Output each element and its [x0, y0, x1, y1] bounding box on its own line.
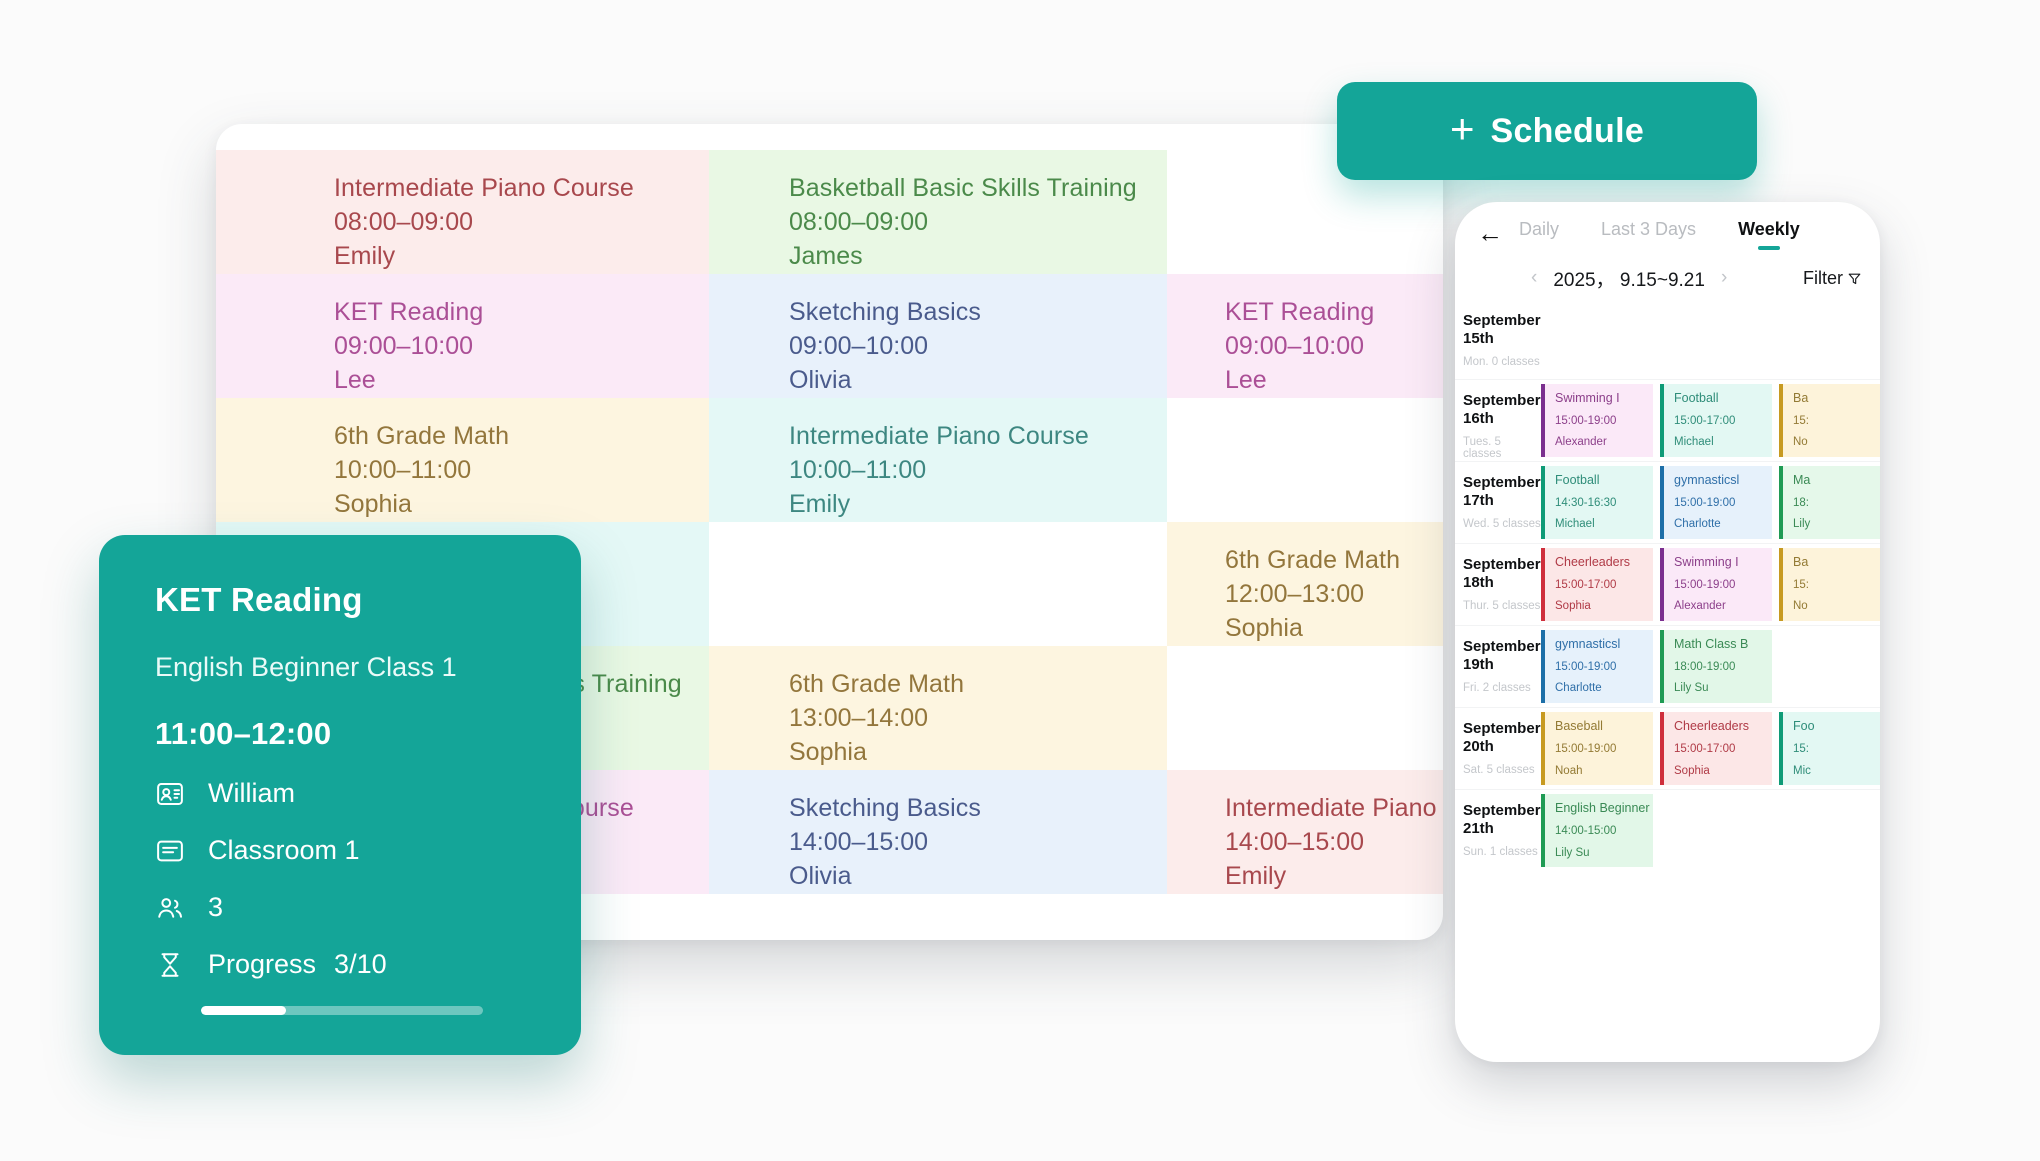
phone-event-title: Baseball: [1555, 720, 1653, 734]
schedule-cell-empty: [1167, 646, 1443, 770]
prev-week-icon[interactable]: ‹: [1531, 267, 1537, 289]
phone-date-bar: ‹ 2025， 9.15~9.21 › Filter: [1455, 256, 1880, 300]
phone-event-teacher: Michael: [1555, 518, 1653, 531]
schedule-cell-time: 09:00–10:00: [1225, 334, 1443, 360]
phone-event-teacher: Charlotte: [1674, 518, 1772, 531]
phone-day-events: Baseball15:00-19:00NoahCheerleaders15:00…: [1541, 708, 1880, 789]
phone-day-month: September: [1463, 802, 1541, 820]
phone-event-chip[interactable]: Swimming I15:00-19:00Alexander: [1541, 384, 1653, 457]
phone-day-label: September21thSun. 1 classes: [1455, 790, 1541, 871]
people-icon: [155, 893, 185, 923]
phone-event-title: gymnasticsl: [1674, 474, 1772, 488]
phone-event-teacher: Sophia: [1674, 765, 1772, 778]
schedule-cell-time: 13:00–14:00: [789, 706, 1167, 732]
phone-day-events: Cheerleaders15:00-17:00SophiaSwimming I1…: [1541, 544, 1880, 625]
phone-day-month: September: [1463, 556, 1541, 574]
phone-day-month: September: [1463, 720, 1541, 738]
progress-bar-fill: [201, 1006, 286, 1015]
phone-day-row: September21thSun. 1 classesEnglish Begin…: [1455, 789, 1880, 871]
detail-subtitle: English Beginner Class 1: [155, 652, 541, 683]
phone-day-label: September19thFri. 2 classes: [1455, 626, 1541, 707]
phone-event-chip[interactable]: Ma18:Lily: [1779, 466, 1880, 539]
add-schedule-button[interactable]: + Schedule: [1337, 82, 1757, 180]
phone-event-teacher: No: [1793, 600, 1880, 613]
add-schedule-label: Schedule: [1490, 112, 1644, 151]
phone-event-chip[interactable]: gymnasticsl15:00-19:00Charlotte: [1660, 466, 1772, 539]
schedule-cell[interactable]: 6th Grade Math13:00–14:00Sophia: [709, 646, 1167, 770]
schedule-cell-time: 12:00–13:00: [1225, 582, 1443, 608]
schedule-cell-teacher: Olivia: [789, 864, 1167, 890]
phone-day-row: September15thMon. 0 classes: [1455, 300, 1880, 379]
schedule-cell-teacher: Lee: [1225, 368, 1443, 394]
detail-title: KET Reading: [155, 581, 541, 619]
phone-event-time: 15:00-19:00: [1674, 497, 1772, 510]
phone-day-events: gymnasticsl15:00-19:00CharlotteMath Clas…: [1541, 626, 1880, 707]
phone-day-label: September20thSat. 5 classes: [1455, 708, 1541, 789]
schedule-cell-teacher: Sophia: [1225, 616, 1443, 642]
phone-event-chip[interactable]: Math Class B18:00-19:00Lily Su: [1660, 630, 1772, 703]
phone-event-title: Swimming I: [1555, 392, 1653, 406]
schedule-cell-time: 09:00–10:00: [334, 334, 709, 360]
phone-event-title: Ba: [1793, 556, 1880, 570]
phone-day-month: September: [1463, 638, 1541, 656]
phone-event-time: 15:00-17:00: [1674, 415, 1772, 428]
phone-day-number: 18th: [1463, 574, 1541, 592]
phone-event-title: Football: [1555, 474, 1653, 488]
schedule-cell[interactable]: 6th Grade Math12:00–13:00Sophia: [1167, 522, 1443, 646]
phone-day-events: [1541, 300, 1880, 379]
phone-day-summary: Fri. 2 classes: [1463, 682, 1541, 694]
phone-event-title: Ma: [1793, 474, 1880, 488]
detail-teacher-row: William: [155, 778, 541, 809]
phone-event-teacher: Sophia: [1555, 600, 1653, 613]
next-week-icon[interactable]: ›: [1721, 267, 1727, 289]
schedule-cell-title: Intermediate Piano Course: [789, 424, 1167, 450]
phone-event-time: 15:00-19:00: [1674, 579, 1772, 592]
filter-label: Filter: [1803, 268, 1843, 289]
phone-day-summary: Sat. 5 classes: [1463, 764, 1541, 776]
detail-progress-value: 3/10: [334, 949, 387, 980]
phone-event-chip[interactable]: Cheerleaders15:00-17:00Sophia: [1541, 548, 1653, 621]
phone-event-chip[interactable]: gymnasticsl15:00-19:00Charlotte: [1541, 630, 1653, 703]
plus-icon: +: [1450, 108, 1475, 150]
phone-event-title: English Beginner …: [1555, 802, 1653, 816]
phone-view-tabs: ← Daily Last 3 Days Weekly: [1455, 202, 1880, 256]
schedule-cell-empty: [1167, 398, 1443, 522]
phone-day-events: Swimming I15:00-19:00AlexanderFootball15…: [1541, 380, 1880, 461]
phone-event-time: 15:00-17:00: [1555, 579, 1653, 592]
phone-event-title: Cheerleaders: [1555, 556, 1653, 570]
schedule-cell-time: 09:00–10:00: [789, 334, 1167, 360]
schedule-cell[interactable]: Intermediate Piano Course14:00–15:00Emil…: [1167, 770, 1443, 894]
schedule-cell-time: 14:00–15:00: [1225, 830, 1443, 856]
schedule-cell[interactable]: Basketball Basic Skills Training08:00–09…: [709, 150, 1167, 274]
schedule-cell-title: 6th Grade Math: [334, 424, 709, 450]
phone-event-title: Cheerleaders: [1674, 720, 1772, 734]
phone-day-number: 16th: [1463, 410, 1541, 428]
phone-event-time: 14:30-16:30: [1555, 497, 1653, 510]
schedule-cell[interactable]: Intermediate Piano Course10:00–11:00Emil…: [709, 398, 1167, 522]
detail-students-row: 3: [155, 892, 541, 923]
classroom-icon: [155, 836, 185, 866]
filter-button[interactable]: Filter: [1803, 268, 1862, 289]
phone-day-row: September16thTues. 5 classesSwimming I15…: [1455, 379, 1880, 461]
phone-event-time: 18:: [1793, 497, 1880, 510]
schedule-cell[interactable]: KET Reading09:00–10:00Lee: [1167, 274, 1443, 398]
phone-event-time: 15:: [1793, 579, 1880, 592]
class-detail-card[interactable]: KET Reading English Beginner Class 1 11:…: [99, 535, 581, 1055]
tab-daily[interactable]: Daily: [1517, 219, 1561, 248]
phone-day-number: 15th: [1463, 330, 1541, 348]
phone-day-number: 17th: [1463, 492, 1541, 510]
schedule-cell-time: 10:00–11:00: [789, 458, 1167, 484]
phone-event-teacher: Noah: [1555, 765, 1653, 778]
phone-day-month: September: [1463, 392, 1541, 410]
phone-event-title: gymnasticsl: [1555, 638, 1653, 652]
schedule-cell-title: 6th Grade Math: [789, 672, 1167, 698]
phone-event-title: Math Class B: [1674, 638, 1772, 652]
phone-day-summary: Thur. 5 classes: [1463, 600, 1541, 612]
tab-last-3-days[interactable]: Last 3 Days: [1599, 219, 1698, 248]
schedule-cell[interactable]: Sketching Basics14:00–15:00Olivia: [709, 770, 1167, 894]
detail-room: Classroom 1: [208, 835, 360, 866]
schedule-cell-teacher: Sophia: [789, 740, 1167, 766]
phone-event-title: Foo: [1793, 720, 1880, 734]
phone-day-label: September16thTues. 5 classes: [1455, 380, 1541, 461]
schedule-cell-teacher: James: [789, 244, 1167, 270]
phone-event-time: 15:00-19:00: [1555, 661, 1653, 674]
phone-event-time: 15:: [1793, 415, 1880, 428]
schedule-cell-teacher: Olivia: [789, 368, 1167, 394]
phone-event-chip[interactable]: Football14:30-16:30Michael: [1541, 466, 1653, 539]
tab-weekly[interactable]: Weekly: [1736, 219, 1802, 248]
phone-day-row: September19thFri. 2 classesgymnasticsl15…: [1455, 625, 1880, 707]
phone-event-time: 14:00-15:00: [1555, 825, 1653, 838]
phone-event-teacher: Lily Su: [1555, 847, 1653, 860]
schedule-cell-title: 6th Grade Math: [1225, 548, 1443, 574]
phone-mockup: ← Daily Last 3 Days Weekly ‹ 2025， 9.15~…: [1455, 202, 1880, 1062]
phone-day-label: September17thWed. 5 classes: [1455, 462, 1541, 543]
phone-day-number: 21th: [1463, 820, 1541, 838]
phone-day-events: Football14:30-16:30Michaelgymnasticsl15:…: [1541, 462, 1880, 543]
schedule-cell-teacher: Emily: [789, 492, 1167, 518]
schedule-cell-teacher: Emily: [1225, 864, 1443, 890]
phone-event-teacher: Mic: [1793, 765, 1880, 778]
filter-icon: [1847, 271, 1862, 286]
phone-week-list: September15thMon. 0 classesSeptember16th…: [1455, 300, 1880, 871]
phone-day-row: September18thThur. 5 classesCheerleaders…: [1455, 543, 1880, 625]
schedule-cell[interactable]: Sketching Basics09:00–10:00Olivia: [709, 274, 1167, 398]
phone-event-chip[interactable]: Ba15:No: [1779, 384, 1880, 457]
phone-event-teacher: Lily: [1793, 518, 1880, 531]
phone-event-time: 15:00-19:00: [1555, 415, 1653, 428]
phone-day-summary: Sun. 1 classes: [1463, 846, 1541, 858]
schedule-cell-empty: [709, 522, 1167, 646]
phone-event-teacher: Lily Su: [1674, 682, 1772, 695]
phone-day-row: September20thSat. 5 classesBaseball15:00…: [1455, 707, 1880, 789]
phone-event-teacher: Michael: [1674, 436, 1772, 449]
phone-event-time: 18:00-19:00: [1674, 661, 1772, 674]
schedule-cell-title: Intermediate Piano Course: [334, 176, 709, 202]
phone-event-title: Ba: [1793, 392, 1880, 406]
phone-event-title: Football: [1674, 392, 1772, 406]
phone-day-month: September: [1463, 474, 1541, 492]
detail-progress-row: Progress 3/10: [155, 949, 541, 980]
phone-day-label: September18thThur. 5 classes: [1455, 544, 1541, 625]
schedule-cell-teacher: Lee: [334, 368, 709, 394]
schedule-cell-title: Sketching Basics: [789, 796, 1167, 822]
phone-day-summary: Tues. 5 classes: [1463, 436, 1541, 460]
phone-day-row: September17thWed. 5 classesFootball14:30…: [1455, 461, 1880, 543]
phone-day-number: 19th: [1463, 656, 1541, 674]
phone-event-teacher: No: [1793, 436, 1880, 449]
schedule-cell-time: 10:00–11:00: [334, 458, 709, 484]
phone-event-chip[interactable]: Ba15:No: [1779, 548, 1880, 621]
phone-event-teacher: Alexander: [1674, 600, 1772, 613]
schedule-cell-title: Intermediate Piano Course: [1225, 796, 1443, 822]
schedule-cell[interactable]: 6th Grade Math10:00–11:00Sophia: [216, 398, 709, 522]
schedule-cell[interactable]: Intermediate Piano Course08:00–09:00Emil…: [216, 150, 709, 274]
phone-event-teacher: Alexander: [1555, 436, 1653, 449]
detail-students-count: 3: [208, 892, 223, 923]
schedule-cell-title: Basketball Basic Skills Training: [789, 176, 1167, 202]
back-arrow-icon[interactable]: ←: [1477, 220, 1517, 246]
hourglass-icon: [155, 950, 185, 980]
schedule-cell-teacher: Sophia: [334, 492, 709, 518]
phone-event-chip[interactable]: Baseball15:00-19:00Noah: [1541, 712, 1653, 785]
phone-event-chip[interactable]: Football15:00-17:00Michael: [1660, 384, 1772, 457]
phone-event-chip[interactable]: Foo15:Mic: [1779, 712, 1880, 785]
phone-event-title: Swimming I: [1674, 556, 1772, 570]
phone-event-time: 15:00-17:00: [1674, 743, 1772, 756]
detail-time: 11:00–12:00: [155, 716, 541, 752]
schedule-cell-title: Sketching Basics: [789, 300, 1167, 326]
phone-day-number: 20th: [1463, 738, 1541, 756]
detail-teacher: William: [208, 778, 295, 809]
schedule-cell-time: 08:00–09:00: [789, 210, 1167, 236]
phone-day-label: September15thMon. 0 classes: [1455, 300, 1541, 379]
phone-event-teacher: Charlotte: [1555, 682, 1653, 695]
schedule-cell-title: KET Reading: [1225, 300, 1443, 326]
phone-day-events: English Beginner …14:00-15:00Lily Su: [1541, 790, 1880, 871]
schedule-cell[interactable]: KET Reading09:00–10:00Lee: [216, 274, 709, 398]
phone-event-chip[interactable]: Swimming I15:00-19:00Alexander: [1660, 548, 1772, 621]
phone-event-time: 15:: [1793, 743, 1880, 756]
progress-bar-track: [201, 1006, 483, 1015]
schedule-cell-time: 14:00–15:00: [789, 830, 1167, 856]
detail-progress-label: Progress: [208, 949, 316, 980]
teacher-badge-icon: [155, 779, 185, 809]
phone-event-time: 15:00-19:00: [1555, 743, 1653, 756]
schedule-cell-time: 08:00–09:00: [334, 210, 709, 236]
phone-day-summary: Wed. 5 classes: [1463, 518, 1541, 530]
screenshot-root: Intermediate Piano Course08:00–09:00Emil…: [0, 0, 2040, 1161]
schedule-cell-teacher: Emily: [334, 244, 709, 270]
phone-event-chip[interactable]: Cheerleaders15:00-17:00Sophia: [1660, 712, 1772, 785]
phone-day-month: September: [1463, 312, 1541, 330]
schedule-cell-title: KET Reading: [334, 300, 709, 326]
detail-room-row: Classroom 1: [155, 835, 541, 866]
phone-day-summary: Mon. 0 classes: [1463, 356, 1541, 368]
phone-event-chip[interactable]: English Beginner …14:00-15:00Lily Su: [1541, 794, 1653, 867]
week-range-label: 2025， 9.15~9.21: [1553, 265, 1705, 292]
